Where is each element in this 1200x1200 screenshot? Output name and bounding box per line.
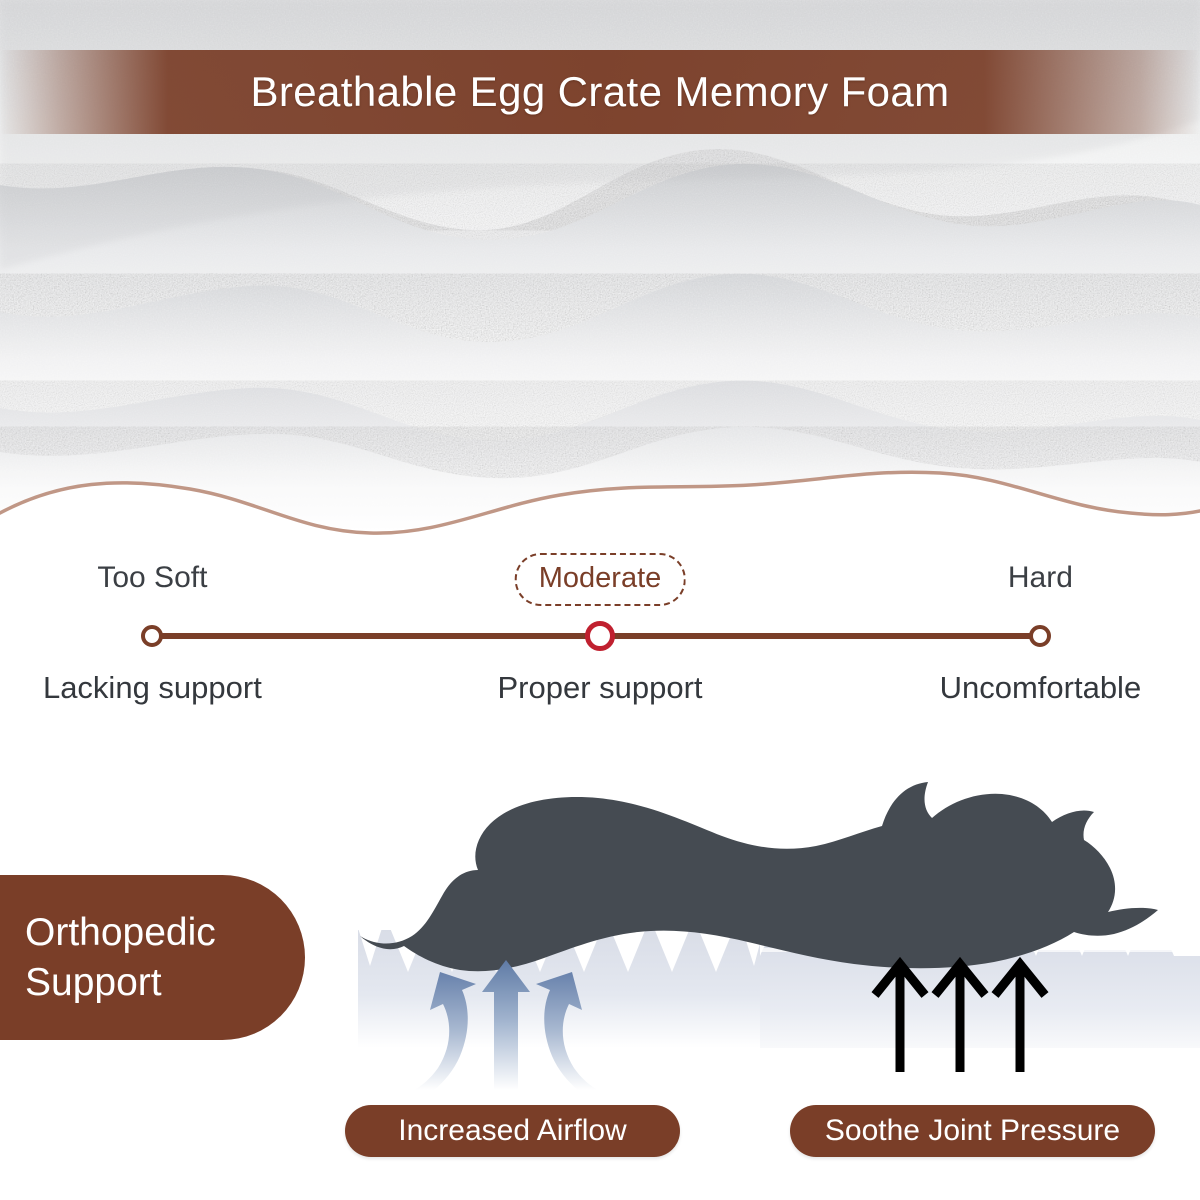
product-infographic: Breathable Egg Crate Memory Foam Too Sof… bbox=[0, 0, 1200, 1200]
title-banner: Breathable Egg Crate Memory Foam bbox=[0, 50, 1200, 134]
firmness-point-hard[interactable] bbox=[1029, 625, 1051, 647]
page-title: Breathable Egg Crate Memory Foam bbox=[250, 68, 949, 116]
firmness-bottom-labels: Lacking support Proper support Uncomfort… bbox=[0, 665, 1200, 711]
firmness-sublabel-uncomfortable: Uncomfortable bbox=[940, 665, 1142, 711]
orthopedic-badge-line2: Support bbox=[25, 958, 305, 1008]
firmness-point-too-soft[interactable] bbox=[141, 625, 163, 647]
firmness-point-moderate[interactable] bbox=[585, 621, 615, 651]
firmness-sublabel-lacking-support: Lacking support bbox=[43, 665, 262, 711]
firmness-sublabel-proper-support: Proper support bbox=[497, 665, 702, 711]
feature-pill-soothe-joint-pressure: Soothe Joint Pressure bbox=[790, 1105, 1155, 1157]
feature-pill-increased-airflow: Increased Airflow bbox=[345, 1105, 680, 1157]
firmness-label-too-soft: Too Soft bbox=[97, 555, 207, 601]
orthopedic-support-badge: Orthopedic Support bbox=[0, 875, 305, 1040]
firmness-top-labels: Too Soft Moderate Hard bbox=[0, 555, 1200, 601]
firmness-scale: Too Soft Moderate Hard Lacking support P… bbox=[0, 545, 1200, 730]
wavy-separator-line bbox=[0, 455, 1200, 545]
feature-pill-label: Increased Airflow bbox=[398, 1114, 626, 1148]
sleeping-dog-silhouette bbox=[360, 782, 1158, 971]
firmness-badge-moderate[interactable]: Moderate bbox=[515, 553, 686, 606]
upward-pressure-arrows-icon bbox=[875, 964, 1045, 1072]
wave-divider bbox=[0, 455, 1200, 545]
feature-pill-label: Soothe Joint Pressure bbox=[825, 1114, 1120, 1148]
firmness-label-hard: Hard bbox=[1008, 555, 1073, 601]
dog-on-mattress-illustration bbox=[330, 760, 1200, 1090]
orthopedic-badge-line1: Orthopedic bbox=[25, 908, 305, 958]
